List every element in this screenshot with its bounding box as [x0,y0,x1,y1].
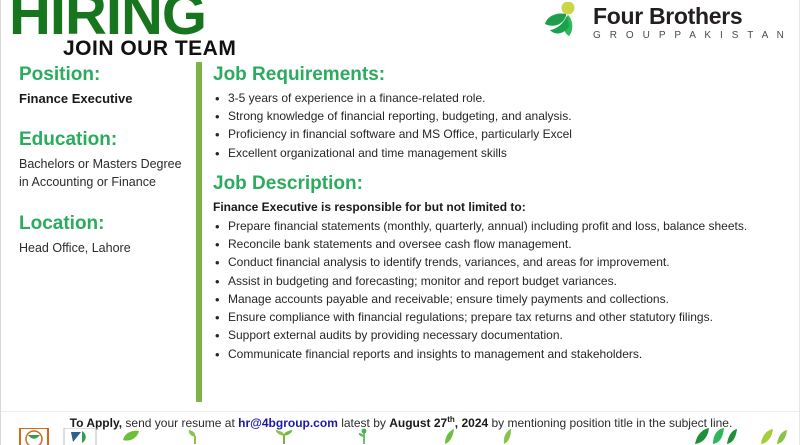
brand-logo-blade [439,428,461,445]
description-item: Prepare financial statements (monthly, q… [213,218,779,236]
requirement-item: Strong knowledge of financial reporting,… [213,108,779,126]
brand-logo-leaf-box [63,428,97,445]
description-item: Manage accounts payable and receivable; … [213,291,779,309]
company-logo: Four Brothers G R O U P P A K I S T A N [543,2,787,44]
sidebar-value-location: Head Office, Lahore [19,239,189,257]
brand-logo-burst [691,428,739,445]
section-heading-description: Job Description: [213,173,779,196]
requirements-list: 3-5 years of experience in a finance-rel… [213,90,779,163]
brand-logo-sprout [183,428,207,445]
section-heading-requirements: Job Requirements: [213,64,779,87]
sidebar-heading-location: Location: [19,213,189,235]
sidebar-block-education: Education: Bachelors or Masters Degree i… [19,129,189,191]
logo-text: Four Brothers G R O U P P A K I S T A N [593,5,787,41]
vertical-divider [196,62,202,402]
brand-logo-circle [19,428,49,445]
description-item: Conduct financial analysis to identify t… [213,254,779,272]
brand-logo-leaf [119,428,145,445]
sidebar-value-position: Finance Executive [19,90,189,108]
description-list: Prepare financial statements (monthly, q… [213,218,779,364]
page-subtitle: JOIN OUR TEAM [63,38,236,59]
description-lede: Finance Executive is responsible for but… [213,199,779,216]
requirement-item: Proficiency in financial software and MS… [213,126,779,144]
sidebar-block-position: Position: Finance Executive [19,64,189,107]
main-content: Job Requirements: 3-5 years of experienc… [213,64,779,364]
sidebar-block-location: Location: Head Office, Lahore [19,213,189,257]
logo-company-subtitle: G R O U P P A K I S T A N [593,31,787,41]
sidebar-heading-position: Position: [19,64,189,86]
description-item: Support external audits by providing nec… [213,327,779,345]
logo-company-name: Four Brothers [593,5,787,28]
requirement-item: Excellent organizational and time manage… [213,145,779,163]
brand-logo-spark [755,428,789,445]
description-item: Communicate financial reports and insigh… [213,346,779,364]
leaf-logo-icon [543,2,589,44]
sidebar: Position: Finance Executive Education: B… [19,64,189,279]
job-posting-poster: HIRING JOIN OUR TEAM Four Brothers G R O… [0,0,800,445]
partner-brand-strip [1,428,800,445]
brand-logo-plant [353,428,375,445]
brand-logo-blade-2 [497,428,519,445]
footer-divider [1,411,800,412]
poster-header: HIRING JOIN OUR TEAM Four Brothers G R O… [1,0,800,62]
sidebar-heading-education: Education: [19,129,189,151]
brand-logo-wheat [269,428,299,445]
description-item: Assist in budgeting and forecasting; mon… [213,273,779,291]
deadline-date-suffix: th [447,415,455,424]
description-item: Ensure compliance with financial regulat… [213,309,779,327]
sidebar-value-education: Bachelors or Masters Degree in Accountin… [19,155,189,191]
requirement-item: 3-5 years of experience in a finance-rel… [213,90,779,108]
description-item: Reconcile bank statements and oversee ca… [213,236,779,254]
